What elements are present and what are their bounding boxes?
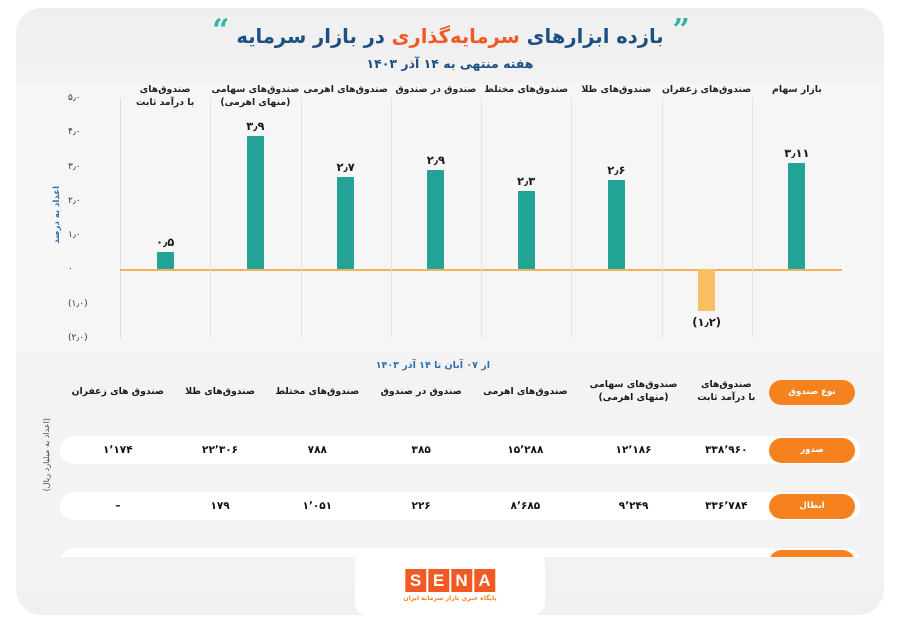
bar-value-label: ۳٫۹ (220, 119, 290, 133)
table-cell: ۹٬۲۴۹ (578, 492, 688, 520)
bar-value-label: ۲٫۶ (581, 163, 651, 177)
grid-line (210, 98, 211, 338)
table-cell: ۲۲٬۳۰۶ (176, 436, 265, 464)
data-table-section: از ۰۷ آبان تا ۱۴ آذر ۱۴۰۳ (اعداد به میلی… (16, 352, 884, 560)
bar (788, 163, 805, 270)
sena-logo-letters: SENA (403, 569, 496, 592)
table-caption: از ۰۷ آبان تا ۱۴ آذر ۱۴۰۳ (376, 360, 490, 371)
footer: SENA پایگاه خبری بازار سرمایه ایران (16, 557, 884, 615)
y-axis-tick: ۲٫۰ (68, 196, 112, 206)
bar-value-label: ۲٫۳ (491, 174, 561, 188)
table-row-spacer (60, 408, 860, 436)
grid-line (752, 98, 753, 338)
y-axis-tick: ۰ (68, 264, 112, 274)
sena-logo-letter: S (405, 569, 426, 592)
table-column-header: صندوق‌های طلا (176, 376, 265, 408)
grid-line (301, 98, 302, 338)
quote-left-icon: “ (212, 16, 227, 46)
spacer-cell (60, 408, 860, 436)
quote-right-icon: ” (673, 16, 688, 46)
y-axis-tick: ۳٫۰ (68, 162, 112, 172)
table-column-header: صندوق‌های سهامی(منهای اهرمی) (578, 376, 688, 408)
table-row-label-cell: ابطال (764, 492, 860, 520)
table-column-header: صندوق‌های مختلط (265, 376, 371, 408)
bar-value-label: ۲٫۷ (311, 160, 381, 174)
sena-tagline: پایگاه خبری بازار سرمایه ایران (403, 595, 496, 602)
table-cell: ۳۸۵ (370, 436, 472, 464)
y-axis-tick: ۱٫۰ (68, 230, 112, 240)
table-header-pill-cell: نوع صندوق (764, 376, 860, 408)
table-column-header: صندوق‌هایبا درآمد ثابت (689, 376, 764, 408)
bar (698, 269, 715, 310)
y-axis-tick: (۲٫۰) (68, 333, 112, 343)
infographic-card: ” بازده ابزارهای سرمایه‌گذاری در بازار س… (16, 8, 884, 615)
bar (157, 252, 174, 269)
table-row: صدور۳۳۸٬۹۶۰۱۲٬۱۸۶۱۵٬۲۸۸۳۸۵۷۸۸۲۲٬۳۰۶۱٬۱۷۴ (60, 436, 860, 464)
table-units-note: (اعداد به میلیارد ریال) (42, 418, 56, 491)
y-axis-tick: ۵٫۰ (68, 93, 112, 103)
bar-chart: اعداد به درصد ۵٫۰۴٫۰۳٫۰۲٫۰۱٫۰۰(۱٫۰)(۲٫۰)… (16, 84, 884, 352)
table-cell: ۳۳۸٬۹۶۰ (689, 436, 764, 464)
bar-value-label: ۰٫۵ (130, 235, 200, 249)
plot-area: ۰٫۵۳٫۹۲٫۷۲٫۹۲٫۳۲٫۶(۱٫۲)۳٫۱۱ (120, 98, 842, 338)
bar-value-label: ۲٫۹ (401, 153, 471, 167)
table-row-spacer (60, 520, 860, 548)
row-label-pill[interactable]: صدور (769, 438, 855, 463)
table-cell: ۸٬۶۸۵ (472, 492, 578, 520)
grid-line (662, 98, 663, 338)
row-label-pill[interactable]: ابطال (769, 494, 855, 519)
bar (608, 180, 625, 269)
table-header-row: نوع صندوقصندوق‌هایبا درآمد ثابتصندوق‌های… (60, 376, 860, 408)
table-cell: ۱٬۰۵۱ (265, 492, 371, 520)
sena-logo-letter: E (428, 569, 449, 592)
y-axis-tick: (۱٫۰) (68, 299, 112, 309)
title-accent: سرمایه‌گذاری (392, 25, 520, 48)
bar (427, 170, 444, 269)
table-cell: ۷۸۸ (265, 436, 371, 464)
y-axis-tick: ۴٫۰ (68, 127, 112, 137)
page-title: بازده ابزارهای سرمایه‌گذاری در بازار سرم… (236, 25, 663, 48)
title-part-2: در بازار سرمایه (236, 25, 391, 48)
sena-logo-letter: A (474, 569, 495, 592)
table-column-header: صندوق‌های اهرمی (472, 376, 578, 408)
table-cell: ۱٬۱۷۴ (60, 436, 176, 464)
grid-line (481, 98, 482, 338)
bar-value-label: (۱٫۲) (672, 315, 742, 329)
table-cell: – (60, 492, 176, 520)
page-subtitle: هفته منتهی به ۱۴ آذر ۱۴۰۳ (367, 56, 534, 71)
spacer-cell (60, 520, 860, 548)
table-cell: ۳۳۶٬۷۸۴ (689, 492, 764, 520)
grid-line (391, 98, 392, 338)
sena-logo-letter: N (451, 569, 472, 592)
header: ” بازده ابزارهای سرمایه‌گذاری در بازار س… (16, 8, 884, 84)
title-row: ” بازده ابزارهای سرمایه‌گذاری در بازار س… (212, 22, 688, 52)
bar-value-label: ۳٫۱۱ (762, 146, 832, 160)
table-cell: ۱۲٬۱۸۶ (578, 436, 688, 464)
table-column-header: صندوق های زعفران (60, 376, 176, 408)
table-cell: ۲۲۶ (370, 492, 472, 520)
sena-logo: SENA پایگاه خبری بازار سرمایه ایران (403, 569, 496, 602)
grid-line (571, 98, 572, 338)
table-cell: ۱۷۹ (176, 492, 265, 520)
chart-category-label: بازار سهام (743, 84, 851, 97)
table-row-label-cell: صدور (764, 436, 860, 464)
bar (337, 177, 354, 270)
title-part-1: بازده ابزارهای (520, 25, 664, 48)
table-row: ابطال۳۳۶٬۷۸۴۹٬۲۴۹۸٬۶۸۵۲۲۶۱٬۰۵۱۱۷۹– (60, 492, 860, 520)
row-type-pill[interactable]: نوع صندوق (769, 380, 855, 405)
bar (247, 136, 264, 270)
spacer-cell (60, 464, 860, 492)
table-cell: ۱۵٬۲۸۸ (472, 436, 578, 464)
bar (518, 191, 535, 270)
y-axis-title: اعداد به درصد (52, 186, 66, 244)
table-column-header: صندوق در صندوق (370, 376, 472, 408)
table-row-spacer (60, 464, 860, 492)
